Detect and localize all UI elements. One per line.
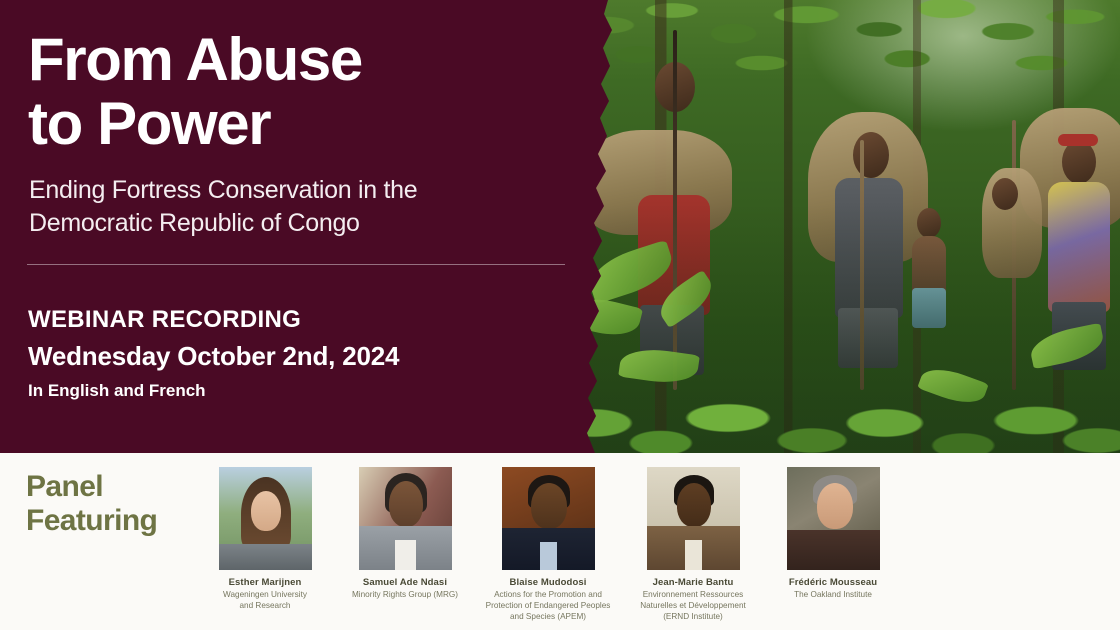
avatar bbox=[647, 467, 740, 570]
avatar bbox=[502, 467, 595, 570]
rainforest-community-photo bbox=[560, 0, 1120, 453]
speaker-card: Jean-Marie Bantu Environnement Ressource… bbox=[613, 467, 773, 623]
avatar bbox=[219, 467, 312, 570]
speaker-name: Blaise Mudodosi bbox=[468, 577, 628, 588]
speaker-card: Esther Marijnen Wageningen University an… bbox=[190, 467, 340, 612]
hero-band: From Abuse to Power Ending Fortress Cons… bbox=[0, 0, 1120, 453]
speaker-affiliation: Minority Rights Group (MRG) bbox=[330, 590, 480, 601]
speaker-name: Jean-Marie Bantu bbox=[613, 577, 773, 588]
speaker-name: Esther Marijnen bbox=[190, 577, 340, 588]
event-date: Wednesday October 2nd, 2024 bbox=[28, 341, 399, 372]
speaker-affiliation: Actions for the Promotion and Protection… bbox=[468, 590, 628, 622]
panel-strip: Panel Featuring Esther Marijnen Wagening… bbox=[0, 453, 1120, 630]
event-type-label: WEBINAR RECORDING bbox=[28, 306, 301, 334]
avatar bbox=[787, 467, 880, 570]
panel-heading: Panel Featuring bbox=[26, 470, 157, 537]
event-languages: In English and French bbox=[28, 381, 206, 401]
webinar-promo-poster: From Abuse to Power Ending Fortress Cons… bbox=[0, 0, 1120, 630]
speaker-affiliation: Wageningen University and Research bbox=[190, 590, 340, 612]
speaker-card: Frédéric Mousseau The Oakland Institute bbox=[758, 467, 908, 601]
page-title: From Abuse to Power bbox=[28, 28, 362, 155]
avatar bbox=[359, 467, 452, 570]
speaker-card: Blaise Mudodosi Actions for the Promotio… bbox=[468, 467, 628, 623]
understory-foliage bbox=[560, 203, 1120, 453]
speaker-affiliation: Environnement Ressources Naturelles et D… bbox=[613, 590, 773, 622]
divider-rule bbox=[27, 264, 565, 265]
speaker-card: Samuel Ade Ndasi Minority Rights Group (… bbox=[330, 467, 480, 601]
speaker-name: Samuel Ade Ndasi bbox=[330, 577, 480, 588]
speaker-name: Frédéric Mousseau bbox=[758, 577, 908, 588]
page-subtitle: Ending Fortress Conservation in the Demo… bbox=[29, 174, 417, 240]
speaker-affiliation: The Oakland Institute bbox=[758, 590, 908, 601]
